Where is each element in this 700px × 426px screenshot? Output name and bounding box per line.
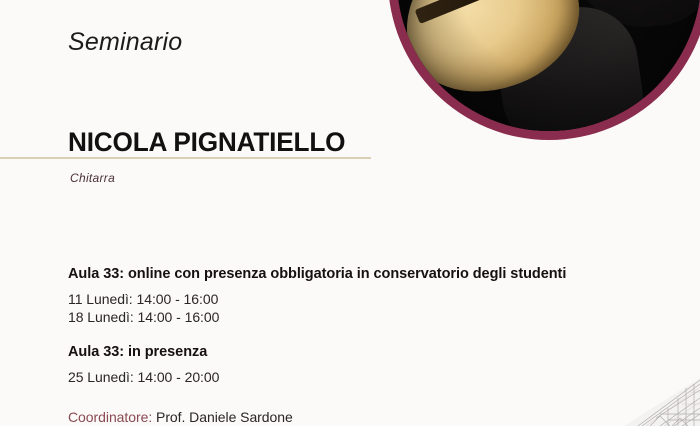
schedule-line: 11 Lunedì: 14:00 - 16:00 bbox=[68, 290, 668, 308]
photo-vignette bbox=[397, 0, 700, 131]
gold-divider bbox=[0, 157, 371, 159]
schedule-section-heading: Aula 33: online con presenza obbligatori… bbox=[68, 266, 668, 282]
schedule-line: 18 Lunedì: 14:00 - 16:00 bbox=[68, 308, 668, 326]
guitarist-photo-ring bbox=[388, 0, 700, 140]
schedule-section-heading: Aula 33: in presenza bbox=[68, 344, 668, 360]
schedule-section-lines: 11 Lunedì: 14:00 - 16:00 18 Lunedì: 14:0… bbox=[68, 290, 668, 327]
schedule-section-lines: 25 Lunedì: 14:00 - 20:00 bbox=[68, 368, 668, 386]
instrument-label: Chitarra bbox=[70, 171, 115, 185]
guitarist-photo bbox=[397, 0, 700, 131]
coordinator-name-value: Prof. Daniele Sardone bbox=[156, 409, 293, 425]
poster-eyebrow: Seminario bbox=[68, 28, 182, 57]
schedule-line: 25 Lunedì: 14:00 - 20:00 bbox=[68, 368, 668, 386]
schedule-block: Aula 33: online con presenza obbligatori… bbox=[68, 266, 668, 386]
coordinator-line: Coordinatore: Prof. Daniele Sardone bbox=[68, 409, 293, 425]
seminar-poster: Seminario NICOLA PIGNATIELLO Chitarra Au… bbox=[0, 0, 700, 426]
coordinator-label: Coordinatore: bbox=[68, 409, 152, 425]
page-title: NICOLA PIGNATIELLO bbox=[68, 127, 345, 158]
